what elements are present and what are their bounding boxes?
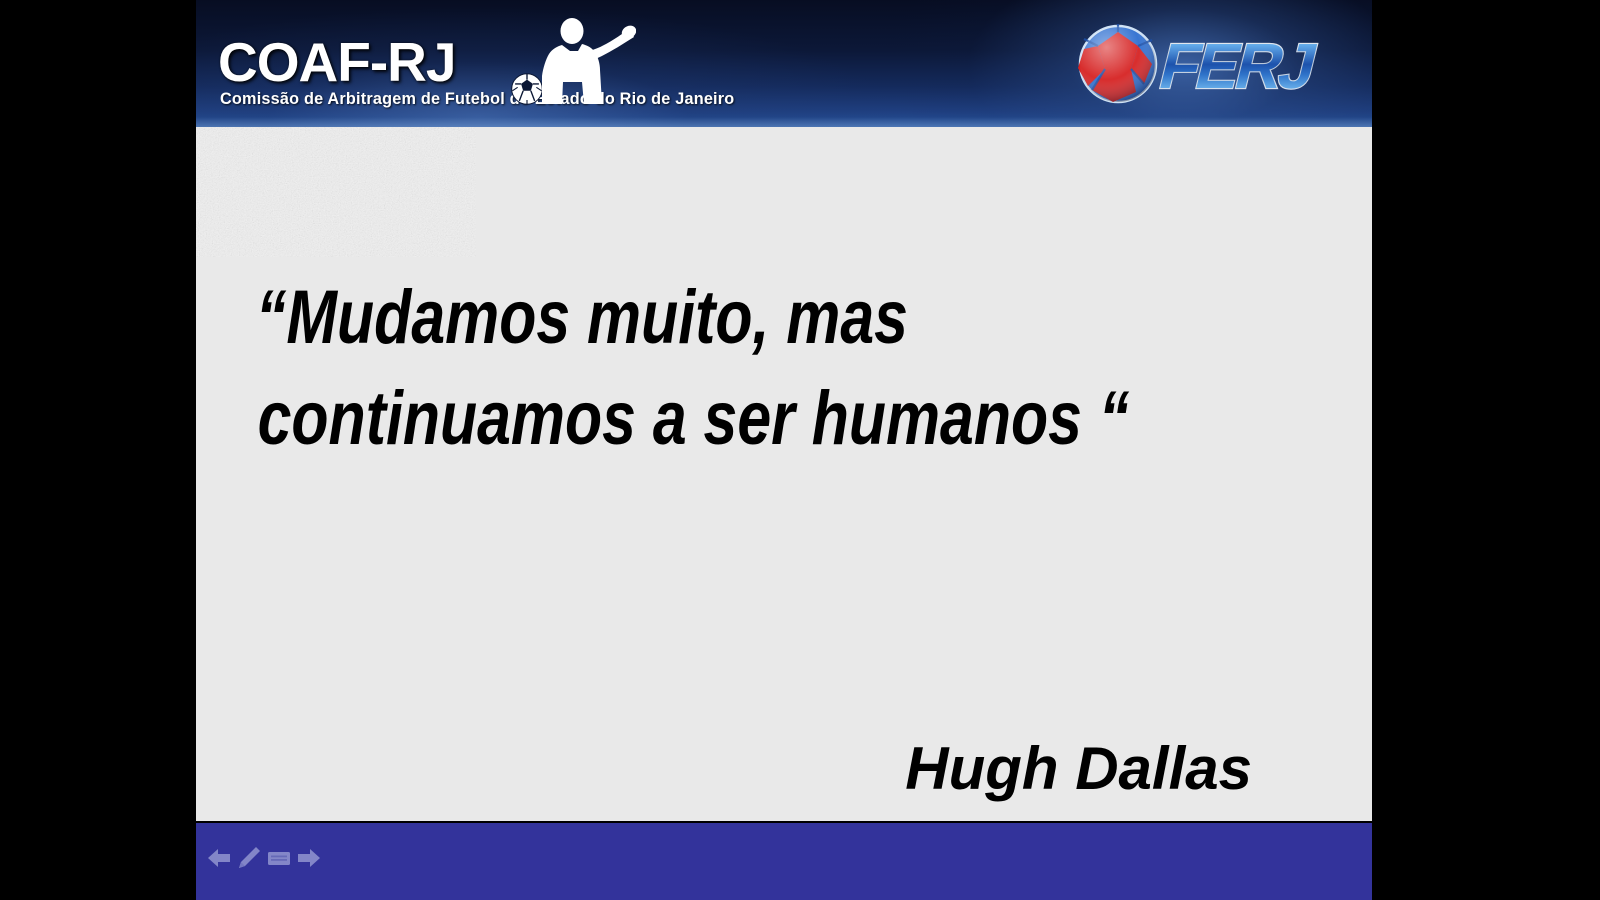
coaf-subtitle: Comissão de Arbitragem de Futebol do Est…	[220, 90, 734, 109]
quote-line-1: “Mudamos muito, mas	[256, 267, 1104, 368]
referee-silhouette-icon	[518, 8, 636, 108]
coaf-rj-logo: COAF-RJ Comissão de Arbitragem de Futebo…	[218, 24, 778, 120]
slide-menu-button[interactable]	[266, 845, 292, 871]
quote-block: “Mudamos muito, mas continuamos a ser hu…	[256, 267, 1316, 469]
menu-icon	[266, 845, 292, 871]
coaf-wordmark: COAF-RJ	[218, 30, 455, 94]
slide-canvas[interactable]: COAF-RJ Comissão de Arbitragem de Futebo…	[196, 0, 1372, 900]
next-slide-button[interactable]	[296, 845, 322, 871]
pen-tool-button[interactable]	[236, 845, 262, 871]
pen-icon	[236, 845, 262, 871]
slide-body: “Mudamos muito, mas continuamos a ser hu…	[196, 127, 1372, 821]
ferj-ball-icon	[1078, 24, 1156, 102]
granite-texture	[196, 127, 476, 257]
presentation-stage: COAF-RJ Comissão de Arbitragem de Futebo…	[0, 0, 1600, 900]
quote-line-2: continuamos a ser humanos “	[256, 368, 1104, 469]
ferj-logo: FERJ	[1064, 16, 1354, 108]
arrow-left-icon	[206, 845, 232, 871]
slide-header-banner: COAF-RJ Comissão de Arbitragem de Futebo…	[196, 0, 1372, 127]
quote-attribution: Hugh Dallas	[256, 737, 1316, 801]
slideshow-toolbar	[196, 823, 1372, 900]
arrow-right-icon	[296, 845, 322, 871]
ferj-wordmark: FERJ	[1153, 30, 1322, 102]
previous-slide-button[interactable]	[206, 845, 232, 871]
